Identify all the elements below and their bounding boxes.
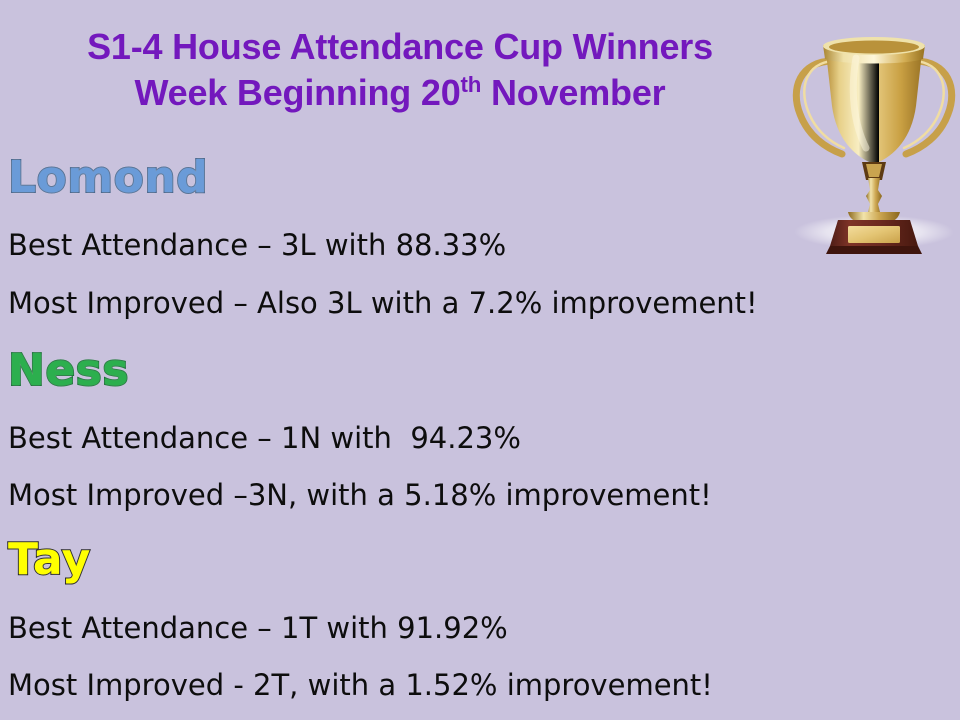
tay-best-attendance: Best Attendance – 1T with 91.92% [8,609,508,647]
house-heading-lomond: Lomond [8,152,208,204]
lomond-most-improved: Most Improved – Also 3L with a 7.2% impr… [8,284,758,322]
lomond-best-attendance: Best Attendance – 3L with 88.33% [8,226,506,264]
title-ordinal-suffix: th [461,72,482,97]
tay-most-improved: Most Improved - 2T, with a 1.52% improve… [8,666,713,704]
page-title: S1-4 House Attendance Cup Winners Week B… [0,24,800,116]
trophy-icon [786,14,960,256]
ness-best-attendance: Best Attendance – 1N with 94.23% [8,419,521,457]
house-heading-tay: Tay [8,534,91,586]
title-line-1: S1-4 House Attendance Cup Winners [0,24,800,70]
slide-canvas: S1-4 House Attendance Cup Winners Week B… [0,0,960,720]
house-heading-ness: Ness [8,345,129,397]
title-line-2-text: Week Beginning 20 [135,72,461,113]
title-line-2-month: November [481,72,665,113]
ness-most-improved: Most Improved –3N, with a 5.18% improvem… [8,476,712,514]
title-line-2: Week Beginning 20th November [0,70,800,116]
